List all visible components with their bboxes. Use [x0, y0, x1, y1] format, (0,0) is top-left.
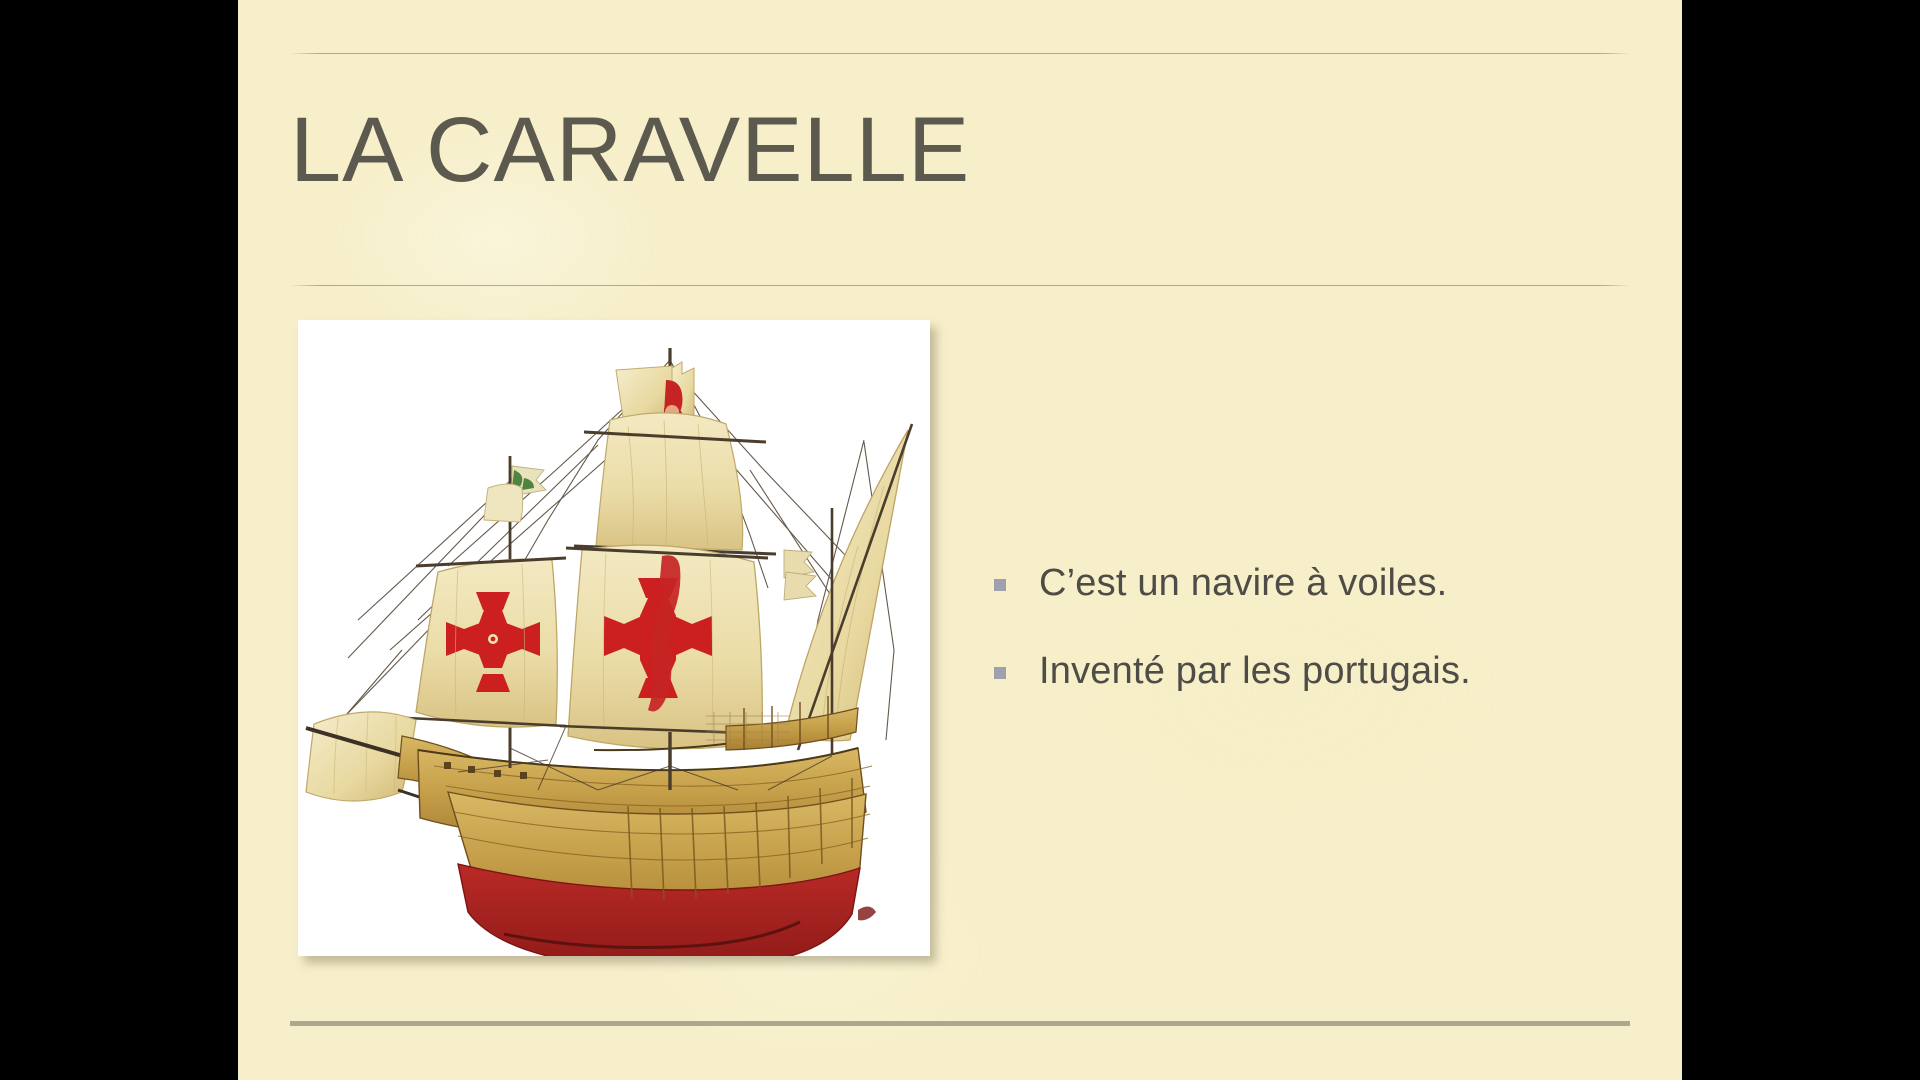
page-title: LA CARAVELLE: [290, 104, 970, 196]
slide-stage: LA CARAVELLE: [0, 0, 1920, 1080]
bottom-bar: [290, 1021, 1630, 1026]
list-item: C’est un navire à voiles.: [994, 560, 1624, 606]
list-item: Inventé par les portugais.: [994, 648, 1624, 694]
square-bullet-icon: [994, 579, 1006, 591]
top-divider-rule: [290, 53, 1630, 54]
bullet-text: Inventé par les portugais.: [1039, 648, 1471, 694]
caravelle-image: [298, 320, 930, 956]
bullet-text: C’est un navire à voiles.: [1039, 560, 1447, 606]
title-divider-rule: [290, 285, 1630, 286]
presentation-slide: LA CARAVELLE: [238, 0, 1682, 1080]
bullet-list: C’est un navire à voiles. Inventé par le…: [994, 560, 1624, 737]
caravelle-illustration-svg: [298, 320, 930, 956]
square-bullet-icon: [994, 667, 1006, 679]
